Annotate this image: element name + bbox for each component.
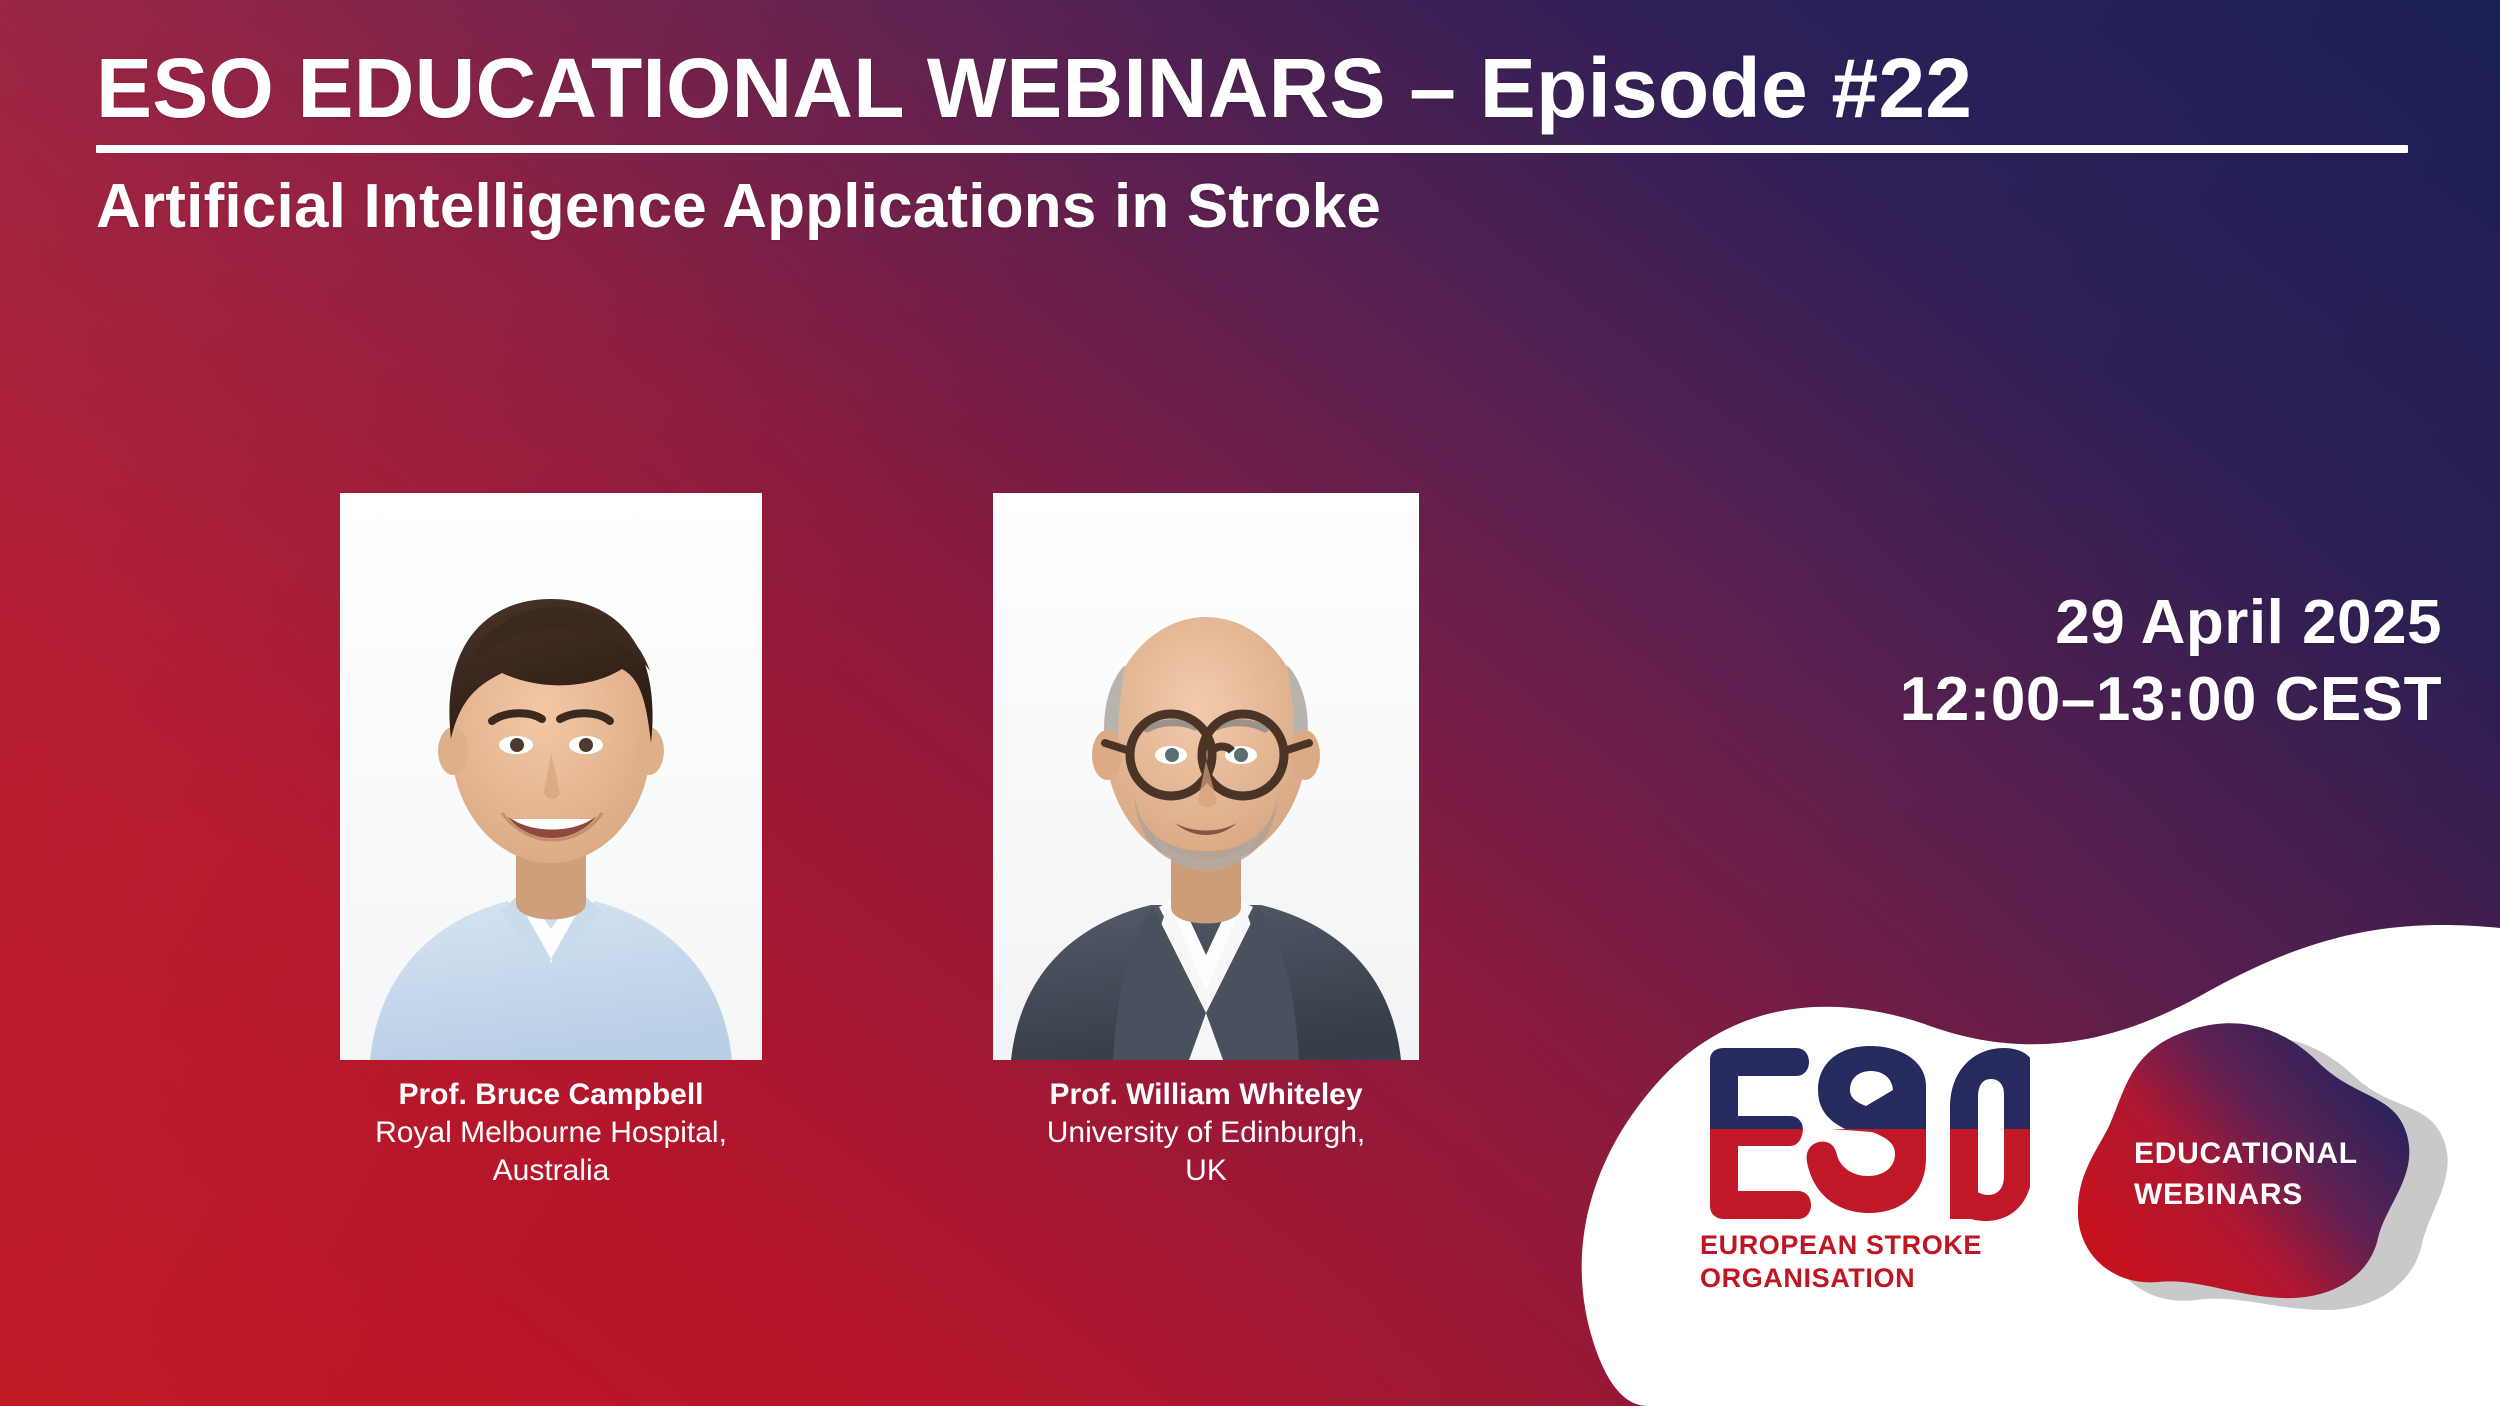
- speaker-affiliation-line2: UK: [993, 1152, 1419, 1190]
- eso-wordmark-icon: [1700, 1046, 2030, 1221]
- eso-name-line2: ORGANISATION: [1700, 1262, 2030, 1295]
- speaker-name: Prof. Bruce Campbell: [340, 1076, 762, 1114]
- eso-logo: EUROPEAN STROKE ORGANISATION: [1700, 1046, 2030, 1286]
- speaker-photo-frame: [993, 493, 1419, 1060]
- speaker-affiliation-line2: Australia: [340, 1152, 762, 1190]
- page-title: ESO EDUCATIONAL WEBINARS – Episode #22: [96, 44, 2416, 133]
- badge-label-line1: EDUCATIONAL: [2134, 1134, 2358, 1175]
- speaker-affiliation-line1: University of Edinburgh,: [993, 1114, 1419, 1152]
- speaker-affiliation-line1: Royal Melbourne Hospital,: [340, 1114, 762, 1152]
- eso-organisation-name: EUROPEAN STROKE ORGANISATION: [1700, 1229, 2030, 1295]
- event-time: 12:00–13:00 CEST: [1900, 662, 2442, 739]
- webinar-promo-banner: ESO EDUCATIONAL WEBINARS – Episode #22 A…: [0, 0, 2500, 1406]
- speaker-card: Prof. William Whiteley University of Edi…: [993, 493, 1419, 1189]
- speaker-caption: Prof. Bruce Campbell Royal Melbourne Hos…: [340, 1076, 762, 1189]
- educational-webinars-badge: EDUCATIONAL WEBINARS: [2078, 1010, 2478, 1326]
- event-date: 29 April 2025: [1900, 585, 2442, 662]
- speaker-name: Prof. William Whiteley: [993, 1076, 1419, 1114]
- portrait-william-whiteley: [993, 493, 1419, 1060]
- headline-block: ESO EDUCATIONAL WEBINARS – Episode #22 A…: [96, 44, 2416, 241]
- page-subtitle: Artificial Intelligence Applications in …: [96, 173, 2416, 241]
- badge-label-line2: WEBINARS: [2134, 1175, 2358, 1216]
- speaker-caption: Prof. William Whiteley University of Edi…: [993, 1076, 1419, 1189]
- title-underline-rule: [96, 145, 2408, 153]
- event-datetime-block: 29 April 2025 12:00–13:00 CEST: [1900, 585, 2442, 739]
- portrait-bruce-campbell: [340, 493, 762, 1060]
- speaker-photo-frame: [340, 493, 762, 1060]
- speaker-card: Prof. Bruce Campbell Royal Melbourne Hos…: [340, 493, 762, 1189]
- eso-name-line1: EUROPEAN STROKE: [1700, 1229, 2030, 1262]
- badge-label: EDUCATIONAL WEBINARS: [2134, 1134, 2358, 1216]
